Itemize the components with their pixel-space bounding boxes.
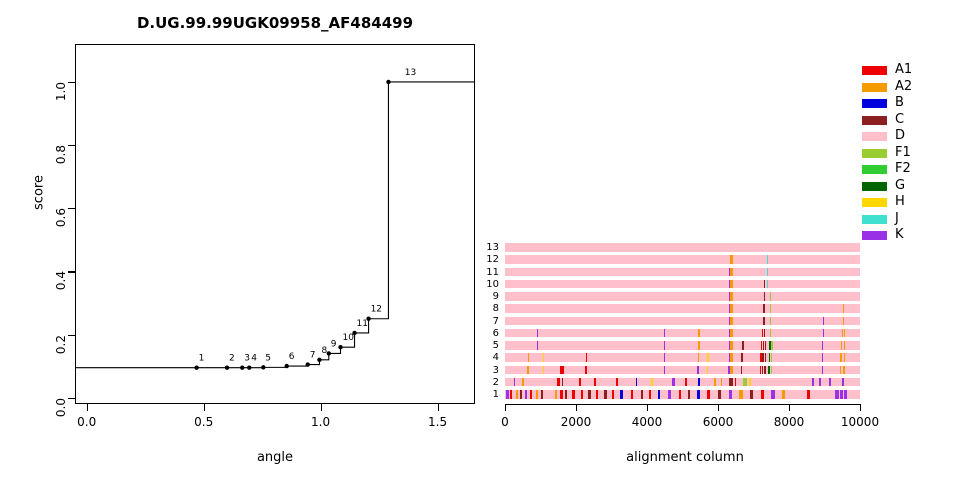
mosaic-segment <box>679 390 681 399</box>
left-y-axis-label: score <box>32 148 47 238</box>
mosaic-segment <box>763 304 764 313</box>
y-tick-mark <box>68 145 75 146</box>
mosaic-segment <box>739 390 743 399</box>
mosaic-segment <box>822 366 823 375</box>
mosaic-segment <box>565 390 567 399</box>
mosaic-row-label: 8 <box>479 303 499 314</box>
mosaic-segment <box>730 255 734 264</box>
mosaic-segment <box>594 378 595 387</box>
mosaic-segment <box>763 317 764 326</box>
step-point-label: 2 <box>229 354 235 364</box>
mosaic-row <box>505 378 860 387</box>
mosaic-segment <box>765 341 766 350</box>
mosaic-row-label: 10 <box>479 279 499 290</box>
mosaic-segment <box>698 353 699 362</box>
legend-item-label: J <box>895 211 899 226</box>
legend-item-label: A1 <box>895 62 912 77</box>
mosaic-segment <box>764 366 765 375</box>
right-x-tick-mark <box>860 404 861 411</box>
mosaic-segment <box>596 390 598 399</box>
step-point-label: 9 <box>331 339 337 349</box>
step-data-point <box>327 351 331 355</box>
mosaic-segment <box>819 378 821 387</box>
mosaic-row <box>505 341 860 350</box>
mosaic-segment <box>641 390 644 399</box>
mosaic-row <box>505 243 860 252</box>
step-point-label: 13 <box>405 68 416 78</box>
mosaic-row <box>505 366 860 375</box>
mosaic-row <box>505 317 860 326</box>
mosaic-segment <box>636 378 638 387</box>
mosaic-row-label: 13 <box>479 242 499 253</box>
mosaic-segment <box>761 390 765 399</box>
mosaic-segment <box>750 390 754 399</box>
mosaic-segment <box>506 390 508 399</box>
step-curve-line <box>75 82 475 368</box>
mosaic-segment <box>842 378 844 387</box>
mosaic-segment <box>840 366 841 375</box>
mosaic-segment <box>729 390 733 399</box>
y-tick-label: 0.4 <box>54 271 68 301</box>
mosaic-segment <box>572 390 575 399</box>
mosaic-row-label: 9 <box>479 291 499 302</box>
step-data-point <box>306 362 310 366</box>
right-x-tick-mark <box>576 404 577 411</box>
mosaic-row-label: 11 <box>479 267 499 278</box>
mosaic-segment <box>835 390 839 399</box>
legend-item-label: H <box>895 194 905 209</box>
y-tick-mark <box>68 208 75 209</box>
right-x-tick-mark <box>647 404 648 411</box>
mosaic-segment <box>743 378 747 387</box>
mosaic-segment <box>844 341 845 350</box>
mosaic-segment <box>707 353 708 362</box>
mosaic-segment <box>770 304 771 313</box>
step-point-label: 5 <box>265 353 271 363</box>
mosaic-segment <box>516 390 518 399</box>
mosaic-segment <box>631 390 633 399</box>
legend-item-label: D <box>895 128 905 143</box>
mosaic-segment <box>771 353 772 362</box>
x-tick-mark <box>87 404 88 411</box>
mosaic-segment <box>829 378 831 387</box>
mosaic-segment <box>537 341 538 350</box>
mosaic-row-label: 3 <box>479 365 499 376</box>
mosaic-segment <box>730 304 733 313</box>
mosaic-segment <box>730 280 733 289</box>
mosaic-segment <box>844 353 845 362</box>
right-x-tick-label: 4000 <box>625 415 669 429</box>
mosaic-segment <box>543 366 544 375</box>
mosaic-row <box>505 304 860 313</box>
mosaic-segment <box>771 390 775 399</box>
mosaic-segment <box>770 292 771 301</box>
mosaic-row-label: 12 <box>479 254 499 265</box>
right-x-tick-mark <box>505 404 506 411</box>
mosaic-segment <box>843 317 844 326</box>
mosaic-segment <box>771 366 772 375</box>
legend-color-swatch <box>862 182 887 191</box>
mosaic-segment <box>557 378 560 387</box>
y-tick-label: 0.0 <box>54 398 68 428</box>
step-data-point <box>366 317 370 321</box>
mosaic-segment <box>843 304 844 313</box>
legend-color-swatch <box>862 231 887 240</box>
step-point-label: 11 <box>357 319 368 329</box>
x-tick-mark <box>321 404 322 411</box>
mosaic-segment <box>760 353 762 362</box>
step-data-point <box>225 365 229 369</box>
mosaic-segment <box>730 353 733 362</box>
mosaic-segment <box>840 390 842 399</box>
legend-item-label: F2 <box>895 161 911 176</box>
step-point-label: 3 <box>244 354 250 364</box>
legend-color-swatch <box>862 198 887 207</box>
mosaic-row-label: 6 <box>479 328 499 339</box>
mosaic-row-label: 2 <box>479 377 499 388</box>
mosaic-segment <box>707 390 710 399</box>
legend-color-swatch <box>862 165 887 174</box>
legend-color-swatch <box>862 66 887 75</box>
mosaic-row-label: 4 <box>479 352 499 363</box>
mosaic-row-label: 5 <box>479 340 499 351</box>
mosaic-segment <box>530 390 532 399</box>
step-point-label: 1 <box>199 354 205 364</box>
mosaic-segment <box>749 378 751 387</box>
y-tick-mark <box>68 271 75 272</box>
legend-item-label: A2 <box>895 79 912 94</box>
mosaic-segment <box>767 280 768 289</box>
mosaic-segment <box>823 329 824 338</box>
mosaic-segment <box>812 378 814 387</box>
mosaic-segment <box>555 390 557 399</box>
mosaic-segment <box>730 268 733 277</box>
mosaic-segment <box>730 329 733 338</box>
mosaic-segment <box>764 280 765 289</box>
mosaic-segment <box>620 390 622 399</box>
legend-color-swatch <box>862 132 887 141</box>
right-x-tick-label: 10000 <box>838 415 882 429</box>
mosaic-segment <box>537 329 538 338</box>
y-tick-mark <box>68 335 75 336</box>
step-data-point <box>352 331 356 335</box>
mosaic-segment <box>742 341 743 350</box>
mosaic-segment <box>514 378 515 387</box>
mosaic-segment <box>730 366 734 375</box>
y-tick-label: 0.6 <box>54 208 68 238</box>
x-tick-label: 1.0 <box>306 415 336 429</box>
mosaic-segment <box>664 329 665 338</box>
mosaic-segment <box>697 366 699 375</box>
mosaic-segment <box>668 390 671 399</box>
y-tick-label: 0.8 <box>54 145 68 175</box>
legend-color-swatch <box>862 116 887 125</box>
legend-item-label: G <box>895 178 905 193</box>
mosaic-row <box>505 292 860 301</box>
step-point-label: 12 <box>371 305 382 315</box>
figure-canvas: D.UG.99.99UGK09958_AF484499 123456789101… <box>0 0 960 480</box>
mosaic-segment <box>585 366 586 375</box>
mosaic-segment <box>764 329 765 338</box>
step-data-point <box>386 80 390 84</box>
right-x-tick-mark <box>789 404 790 411</box>
mosaic-segment <box>760 366 762 375</box>
mosaic-segment <box>707 366 708 375</box>
mosaic-segment <box>698 378 700 387</box>
mosaic-segment <box>770 317 771 326</box>
mosaic-segment <box>612 390 614 399</box>
mosaic-segment <box>525 390 527 399</box>
mosaic-segment <box>688 390 690 399</box>
step-data-point <box>240 365 244 369</box>
mosaic-segment <box>562 378 563 387</box>
right-x-tick-label: 2000 <box>554 415 598 429</box>
mosaic-row <box>505 353 860 362</box>
legend-color-swatch <box>862 149 887 158</box>
mosaic-segment <box>560 390 563 399</box>
mosaic-segment <box>807 390 811 399</box>
mosaic-segment <box>730 292 733 301</box>
mosaic-row <box>505 329 860 338</box>
mosaic-row <box>505 255 860 264</box>
step-data-point <box>247 365 251 369</box>
mosaic-segment <box>721 378 722 387</box>
mosaic-row-label: 7 <box>479 316 499 327</box>
right-x-tick-label: 0 <box>483 415 527 429</box>
mosaic-segment <box>536 390 538 399</box>
mosaic-segment <box>588 390 590 399</box>
mosaic-segment <box>767 255 768 264</box>
mosaic-segment <box>729 378 733 387</box>
mosaic-segment <box>764 292 765 301</box>
step-data-point <box>285 364 289 368</box>
x-tick-label: 0.5 <box>189 415 219 429</box>
mosaic-segment <box>840 353 841 362</box>
y-tick-mark <box>68 82 75 83</box>
mosaic-segment <box>604 390 606 399</box>
mosaic-segment <box>718 390 721 399</box>
mosaic-segment <box>698 341 699 350</box>
mosaic-segment <box>586 353 587 362</box>
mosaic-segment <box>649 390 651 399</box>
mosaic-segment <box>844 390 846 399</box>
right-x-tick-label: 6000 <box>696 415 740 429</box>
mosaic-segment <box>664 341 665 350</box>
mosaic-segment <box>522 378 524 387</box>
mosaic-segment <box>770 329 771 338</box>
mosaic-segment <box>543 353 544 362</box>
mosaic-row-label: 1 <box>479 389 499 400</box>
right-x-tick-label: 8000 <box>767 415 811 429</box>
mosaic-segment <box>714 378 716 387</box>
mosaic-rows-container: 13121110987654321 <box>505 243 860 403</box>
mosaic-segment <box>520 390 522 399</box>
mosaic-segment <box>822 341 823 350</box>
legend-color-swatch <box>862 99 887 108</box>
mosaic-row <box>505 268 860 277</box>
mosaic-segment <box>843 366 845 375</box>
x-tick-mark <box>438 404 439 411</box>
mosaic-segment <box>765 353 766 362</box>
mosaic-segment <box>651 378 652 387</box>
mosaic-segment <box>527 366 529 375</box>
legend-item-label: B <box>895 95 904 110</box>
step-curve-svg: 12345678910111213 <box>75 44 475 404</box>
mosaic-segment <box>658 390 660 399</box>
legend-color-swatch <box>862 83 887 92</box>
mosaic-segment <box>822 353 823 362</box>
mosaic-segment <box>664 353 665 362</box>
legend-color-swatch <box>862 215 887 224</box>
mosaic-segment <box>697 390 700 399</box>
legend-item-label: C <box>895 112 904 127</box>
mosaic-segment <box>844 329 845 338</box>
mosaic-segment <box>823 317 824 326</box>
mosaic-segment <box>541 390 543 399</box>
mosaic-segment <box>685 378 686 387</box>
mosaic-segment <box>841 341 842 350</box>
right-x-axis-line <box>505 404 860 405</box>
legend-item-label: F1 <box>895 145 911 160</box>
step-data-point <box>317 358 321 362</box>
step-point-label: 6 <box>289 352 295 362</box>
mosaic-segment <box>782 390 786 399</box>
mosaic-segment <box>560 366 563 375</box>
mosaic-segment <box>767 268 768 277</box>
mosaic-segment <box>579 378 581 387</box>
step-data-point <box>194 365 198 369</box>
step-data-point <box>261 365 265 369</box>
mosaic-segment <box>730 317 733 326</box>
step-data-point <box>338 345 342 349</box>
mosaic-segment <box>741 366 742 375</box>
mosaic-segment <box>741 353 742 362</box>
mosaic-segment <box>528 353 529 362</box>
y-tick-label: 1.0 <box>54 82 68 112</box>
legend-item-label: K <box>895 227 904 242</box>
step-point-label: 7 <box>310 351 316 361</box>
page-title: D.UG.99.99UGK09958_AF484499 <box>75 14 475 32</box>
mosaic-segment <box>581 390 583 399</box>
step-point-label: 4 <box>251 354 257 364</box>
x-tick-mark <box>204 404 205 411</box>
mosaic-segment <box>735 378 736 387</box>
mosaic-segment <box>730 341 733 350</box>
mosaic-row <box>505 390 860 399</box>
left-x-axis-label: angle <box>75 450 475 465</box>
mosaic-segment <box>616 378 618 387</box>
mosaic-segment <box>510 390 512 399</box>
mosaic-segment <box>771 341 772 350</box>
mosaic-row <box>505 280 860 289</box>
y-tick-mark <box>68 398 75 399</box>
x-tick-label: 1.5 <box>423 415 453 429</box>
mosaic-segment <box>698 329 699 338</box>
right-x-axis-label: alignment column <box>505 450 865 465</box>
x-tick-label: 0.0 <box>72 415 102 429</box>
mosaic-segment <box>672 378 675 387</box>
step-point-label: 8 <box>321 346 327 356</box>
right-x-tick-mark <box>718 404 719 411</box>
step-point-label: 10 <box>343 333 355 343</box>
mosaic-segment <box>664 366 665 375</box>
y-tick-label: 0.2 <box>54 335 68 365</box>
